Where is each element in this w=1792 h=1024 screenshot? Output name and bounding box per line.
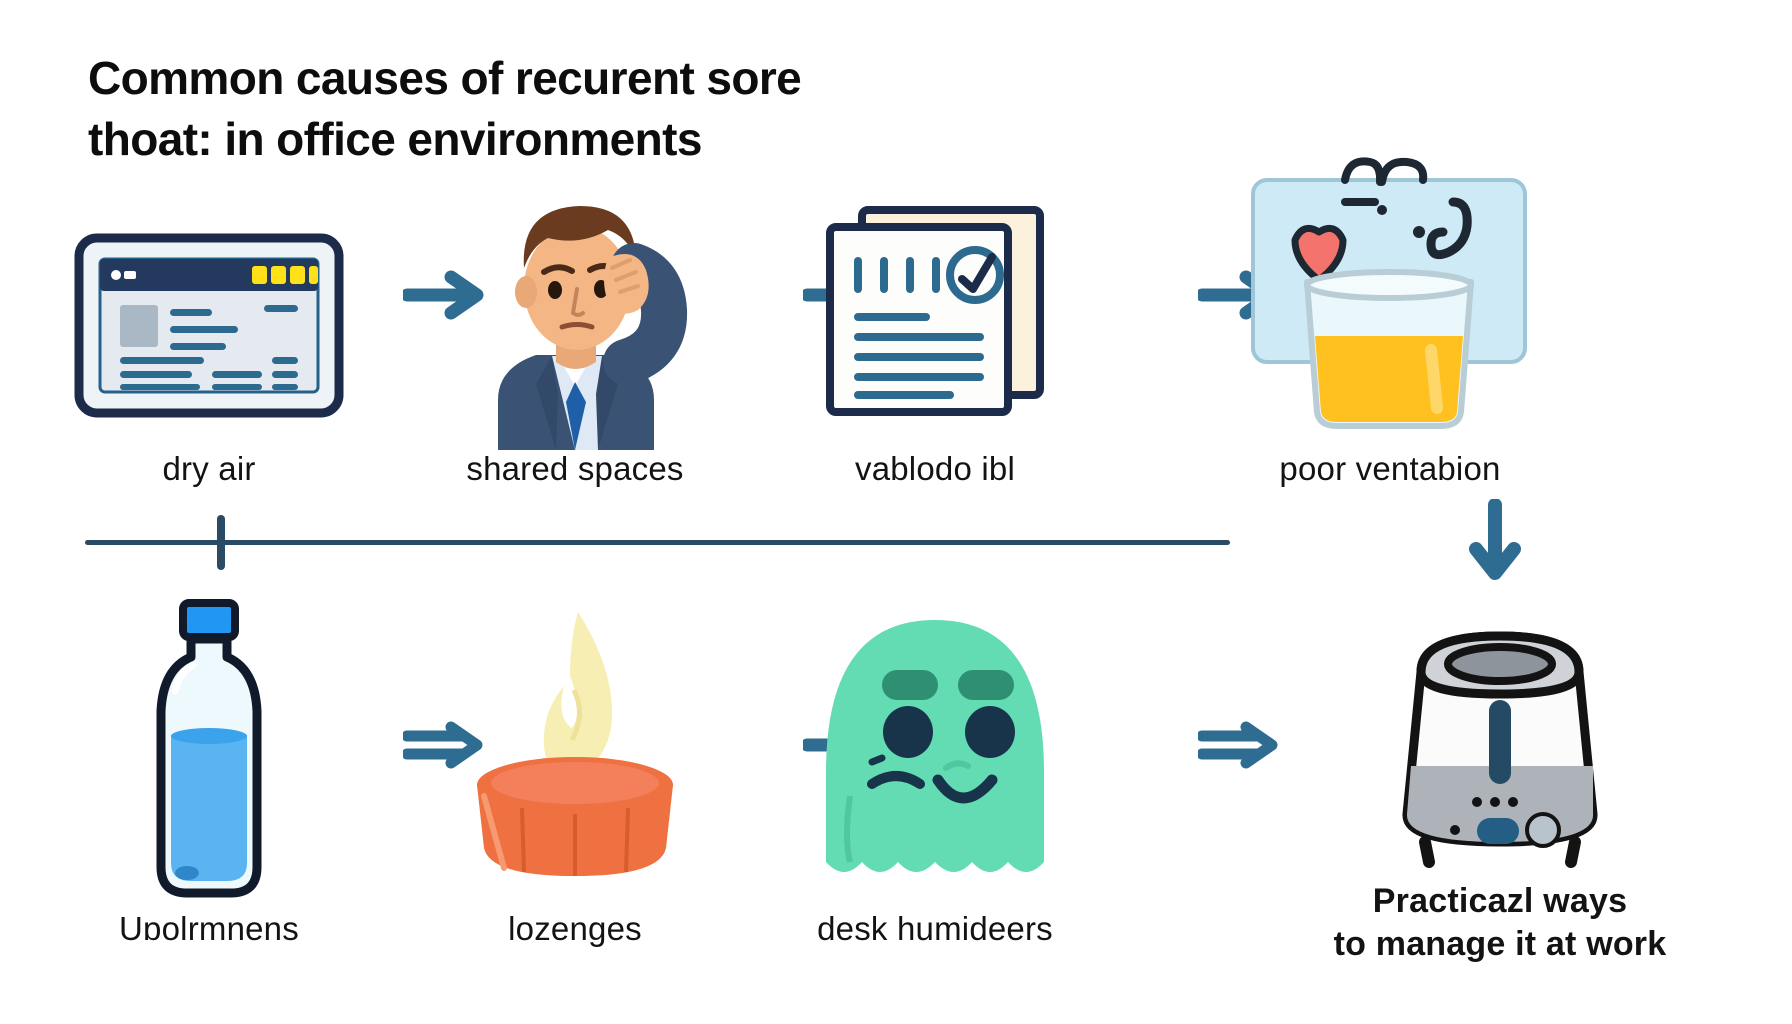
remedy-item-practical-ways[interactable]: Practicazl ways to manage it at work [1290, 580, 1710, 965]
stressed-person-icon [430, 150, 720, 450]
cause-label-dry-air: dry air [64, 450, 354, 488]
remedy-label-hydration: Uɒolrmnens [64, 910, 354, 948]
remedy-item-lozenges[interactable]: lozenges [430, 590, 720, 948]
browser-window-icon [64, 200, 354, 450]
humidifier-icon [1290, 580, 1710, 880]
cause-item-shared-spaces[interactable]: shared spaces [430, 150, 720, 488]
mint-blob-character-icon [790, 570, 1080, 910]
cause-label-workload: vablodo ibl [790, 450, 1080, 488]
divider-tick [217, 515, 225, 570]
remedy-label-desk-humidifiers: desk humideers [790, 910, 1080, 948]
cause-label-poor-ventilation: poor ventabion [1190, 450, 1590, 488]
footer-line-2: to manage it at work [1334, 925, 1667, 963]
page-title-line-1: Common causes of recurent sore [88, 48, 1088, 109]
juice-glass-panel-icon [1190, 120, 1590, 450]
remedy-item-desk-humidifiers[interactable]: desk humideers [790, 570, 1080, 948]
remedy-label-lozenges: lozenges [430, 910, 720, 948]
arrow-down-ventilation [1465, 500, 1525, 590]
section-divider [85, 540, 1230, 545]
footer-line-1: Practicazl ways [1373, 882, 1627, 920]
remedy-item-hydration[interactable]: Uɒolrmnens [64, 590, 354, 948]
cause-item-workload[interactable]: vablodo ibl [790, 175, 1080, 488]
infographic-canvas: Common causes of recurent sore thoat: in… [0, 0, 1792, 1024]
lozenge-bowl-flame-icon [430, 590, 720, 910]
documents-icon [790, 175, 1080, 450]
remedy-label-practical-ways: Practicazl ways to manage it at work [1290, 880, 1710, 965]
cause-item-dry-air[interactable]: dry air [64, 200, 354, 488]
water-bottle-icon [64, 590, 354, 910]
cause-item-poor-ventilation[interactable]: poor ventabion [1190, 120, 1480, 488]
arrow-right-6 [1195, 715, 1291, 775]
cause-label-shared-spaces: shared spaces [430, 450, 720, 488]
